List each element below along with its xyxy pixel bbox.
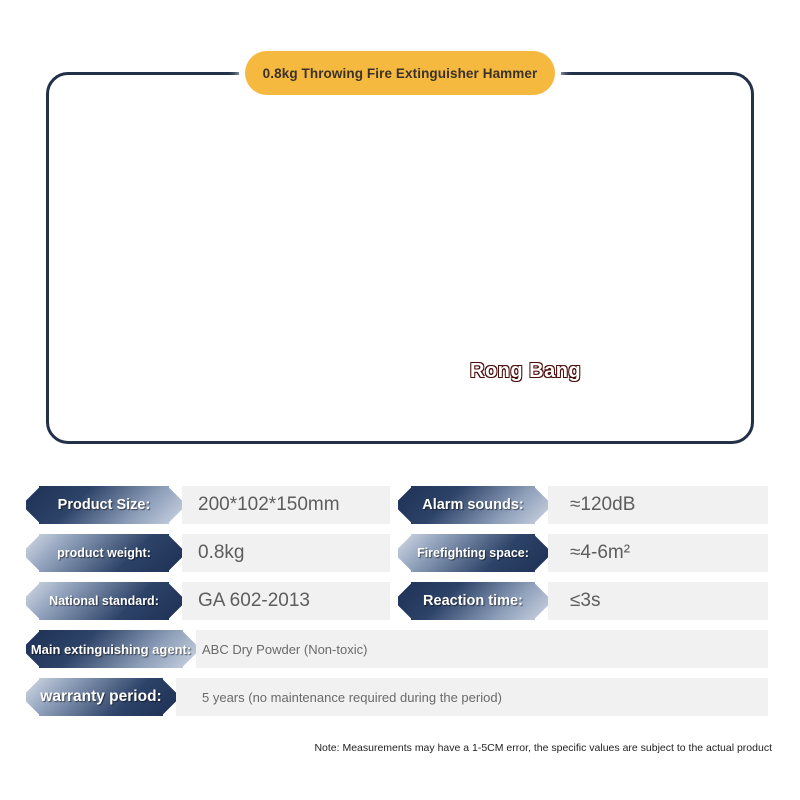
spec-value-main-extinguishing-agent: ABC Dry Powder (Non-toxic) (202, 630, 367, 668)
spec-label-main-extinguishing-agent: Main extinguishing agent: (26, 630, 196, 668)
spec-label-product-weight: product weight: (26, 534, 182, 572)
product-title-text: 0.8kg Throwing Fire Extinguisher Hammer (263, 66, 538, 81)
product-title-banner: 0.8kg Throwing Fire Extinguisher Hammer (245, 51, 555, 95)
spec-label-reaction-time: Reaction time: (398, 582, 548, 620)
spec-value-reaction-time: ≤3s (570, 582, 601, 620)
table-row: National standard: GA 602-2013 Reaction … (26, 582, 768, 620)
table-row: warranty period: 5 years (no maintenance… (26, 678, 768, 716)
spec-label-alarm-sounds: Alarm sounds: (398, 486, 548, 524)
spec-label-firefighting-space: Firefighting space: (398, 534, 548, 572)
spec-value-warranty-period: 5 years (no maintenance required during … (202, 678, 502, 716)
spec-label-product-size: Product Size: (26, 486, 182, 524)
spec-value-national-standard: GA 602-2013 (198, 582, 310, 620)
table-row: Main extinguishing agent: ABC Dry Powder… (26, 630, 768, 668)
spec-value-product-size: 200*102*150mm (198, 486, 340, 524)
table-row: product weight: 0.8kg Firefighting space… (26, 534, 768, 572)
footer-note: Note: Measurements may have a 1-5CM erro… (0, 742, 786, 754)
spec-value-alarm-sounds: ≈120dB (570, 486, 635, 524)
specification-table: Product Size: 200*102*150mm Alarm sounds… (26, 486, 768, 726)
spec-value-firefighting-space: ≈4-6m² (570, 534, 630, 572)
spec-value-product-weight: 0.8kg (198, 534, 244, 572)
brand-watermark: Rong Bang (470, 360, 581, 383)
table-row: Product Size: 200*102*150mm Alarm sounds… (26, 486, 768, 524)
spec-label-national-standard: National standard: (26, 582, 182, 620)
hero-frame (46, 72, 754, 444)
product-spec-page: Rong Bang 0.8kg Throwing Fire Extinguish… (0, 0, 800, 800)
spec-label-warranty-period: warranty period: (26, 678, 176, 716)
